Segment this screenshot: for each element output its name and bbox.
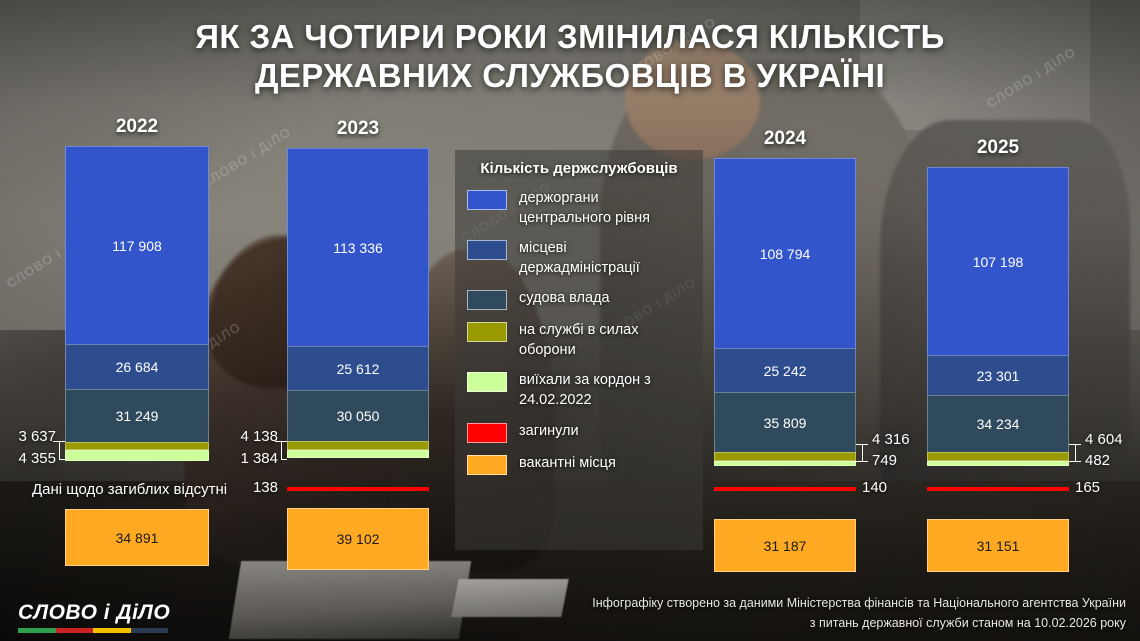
brand-logo-bar-blue <box>131 628 169 633</box>
segment-local-2022[interactable]: 26 684 <box>65 344 209 389</box>
leader-line <box>1069 461 1081 462</box>
brand-logo[interactable]: СЛОВО і ДіЛО <box>18 601 170 633</box>
segment-vacant-2025[interactable]: 31 151 <box>927 519 1069 572</box>
no-data-note-2022: Дані щодо загиблих відсутні <box>32 481 227 498</box>
legend-item-judicial[interactable]: судова влада <box>455 289 703 310</box>
callout-killed-2025: 165 <box>1075 479 1100 496</box>
callout-killed-2023: 138 <box>228 479 278 496</box>
legend-swatch-judicial-icon <box>467 290 507 310</box>
legend-swatch-killed-icon <box>467 423 507 443</box>
segment-defense-2023[interactable] <box>287 441 429 450</box>
segment-central-2022[interactable]: 117 908 <box>65 146 209 344</box>
callout-defense-2025: 4 604 <box>1085 431 1123 448</box>
legend-label-vacant: вакантні місця <box>519 454 616 474</box>
brand-logo-colorbar-icon <box>18 628 168 633</box>
legend-swatch-abroad-icon <box>467 372 507 392</box>
legend-swatch-defense-icon <box>467 322 507 342</box>
legend-label-central: держоргани центрального рівня <box>519 189 691 228</box>
callout-defense-2024: 4 316 <box>872 431 910 448</box>
legend-item-local[interactable]: місцеві держадміністрації <box>455 239 703 278</box>
infographic-canvas: СЛОВО і ДіЛО СЛОВО і ДіЛО СЛОВО і ДіЛО С… <box>0 0 1140 641</box>
segment-abroad-2023[interactable] <box>287 450 429 458</box>
legend-item-defense[interactable]: на службі в силах оборони <box>455 321 703 360</box>
segment-judicial-2023[interactable]: 30 050 <box>287 390 429 441</box>
footer-bar: СЛОВО і ДіЛО Інфографіку створено за дан… <box>0 585 1140 641</box>
brand-logo-bar-yellow <box>93 628 131 633</box>
callout-abroad-2023: 1 384 <box>222 450 278 467</box>
segment-abroad-2024[interactable] <box>714 461 856 466</box>
segment-central-2023[interactable]: 113 336 <box>287 148 429 346</box>
segment-defense-2025[interactable] <box>927 452 1069 461</box>
legend-item-killed[interactable]: загинули <box>455 422 703 443</box>
leader-line <box>59 441 60 459</box>
leader-line <box>281 459 287 460</box>
segment-judicial-2024[interactable]: 35 809 <box>714 392 856 452</box>
segment-local-2025[interactable]: 23 301 <box>927 355 1069 395</box>
segment-local-2023[interactable]: 25 612 <box>287 346 429 390</box>
callout-killed-2024: 140 <box>862 479 887 496</box>
callout-abroad-2025: 482 <box>1085 452 1110 469</box>
legend-label-abroad: виїхали за кордон з 24.02.2022 <box>519 371 691 410</box>
legend-label-defense: на службі в силах оборони <box>519 321 691 360</box>
brand-logo-text: СЛОВО і ДіЛО <box>18 601 170 625</box>
legend-swatch-local-icon <box>467 240 507 260</box>
legend-title: Кількість держслужбовців <box>455 160 703 177</box>
segment-abroad-2025[interactable] <box>927 461 1069 466</box>
leader-line <box>862 444 863 461</box>
source-line-1: Інфографіку створено за даними Міністерс… <box>592 594 1126 613</box>
leader-line <box>275 441 281 442</box>
legend-swatch-vacant-icon <box>467 455 507 475</box>
year-label-2024: 2024 <box>714 128 856 150</box>
legend-item-vacant[interactable]: вакантні місця <box>455 454 703 475</box>
leader-line <box>856 461 868 462</box>
leader-line <box>1075 444 1081 445</box>
segment-judicial-2022[interactable]: 31 249 <box>65 389 209 442</box>
legend-item-central[interactable]: держоргани центрального рівня <box>455 189 703 228</box>
segment-defense-2022[interactable] <box>65 442 209 450</box>
segment-vacant-2023[interactable]: 39 102 <box>287 508 429 570</box>
segment-vacant-2024[interactable]: 31 187 <box>714 519 856 572</box>
legend-item-abroad[interactable]: виїхали за кордон з 24.02.2022 <box>455 371 703 410</box>
legend-panel: Кількість держслужбовців держоргани цент… <box>455 150 703 550</box>
segment-vacant-2022[interactable]: 34 891 <box>65 509 209 566</box>
legend-swatch-central-icon <box>467 190 507 210</box>
brand-logo-bar-red <box>56 628 94 633</box>
year-label-2023: 2023 <box>287 118 429 140</box>
source-note: Інфографіку створено за даними Міністерс… <box>592 594 1126 633</box>
callout-defense-2023: 4 138 <box>222 428 278 445</box>
callout-abroad-2022: 4 355 <box>0 450 56 467</box>
segment-killed-2023[interactable] <box>287 487 429 491</box>
legend-label-killed: загинули <box>519 422 579 442</box>
segment-central-2025[interactable]: 107 198 <box>927 167 1069 355</box>
segment-judicial-2025[interactable]: 34 234 <box>927 395 1069 452</box>
segment-killed-2025[interactable] <box>927 487 1069 491</box>
leader-line <box>862 444 868 445</box>
legend-label-local: місцеві держадміністрації <box>519 239 691 278</box>
segment-defense-2024[interactable] <box>714 452 856 461</box>
segment-local-2024[interactable]: 25 242 <box>714 348 856 392</box>
callout-abroad-2024: 749 <box>872 452 897 469</box>
leader-line <box>1075 444 1076 461</box>
source-line-2: з питань державної служби станом на 10.0… <box>592 614 1126 633</box>
legend-label-judicial: судова влада <box>519 289 610 309</box>
year-label-2022: 2022 <box>65 116 209 138</box>
leader-line <box>53 441 59 442</box>
segment-central-2024[interactable]: 108 794 <box>714 158 856 348</box>
segment-killed-2024[interactable] <box>714 487 856 491</box>
segment-abroad-2022[interactable] <box>65 450 209 461</box>
leader-line <box>281 441 282 459</box>
brand-logo-bar-green <box>18 628 56 633</box>
callout-defense-2022: 3 637 <box>0 428 56 445</box>
leader-line <box>59 459 65 460</box>
year-label-2025: 2025 <box>927 137 1069 159</box>
